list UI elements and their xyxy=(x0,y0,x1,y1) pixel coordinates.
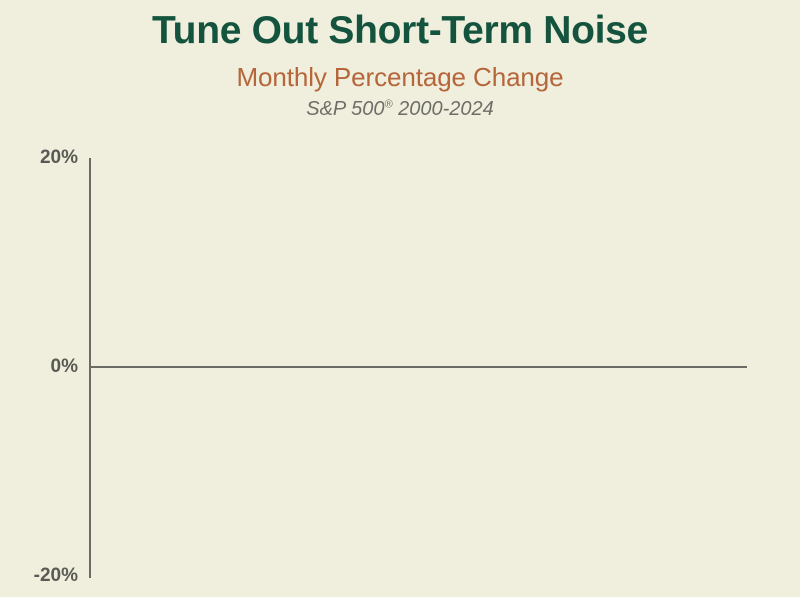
chart-header: Tune Out Short-Term Noise Monthly Percen… xyxy=(0,0,800,121)
chart-figure: Tune Out Short-Term Noise Monthly Percen… xyxy=(0,0,800,597)
chart-subtitle: Monthly Percentage Change xyxy=(0,53,800,92)
registered-trademark-icon: ® xyxy=(384,98,392,110)
y-axis-tick-label-neg20: -20% xyxy=(0,565,78,587)
y-axis-tick-label-0: 0% xyxy=(0,356,78,378)
plot-area xyxy=(90,158,747,578)
chart-caption: S&P 500® 2000-2024 xyxy=(0,92,800,121)
page-title: Tune Out Short-Term Noise xyxy=(0,0,800,53)
caption-date-range: 2000-2024 xyxy=(393,98,494,120)
y-axis-tick-label-20: 20% xyxy=(0,147,78,169)
caption-index-name: S&P 500 xyxy=(306,98,384,120)
